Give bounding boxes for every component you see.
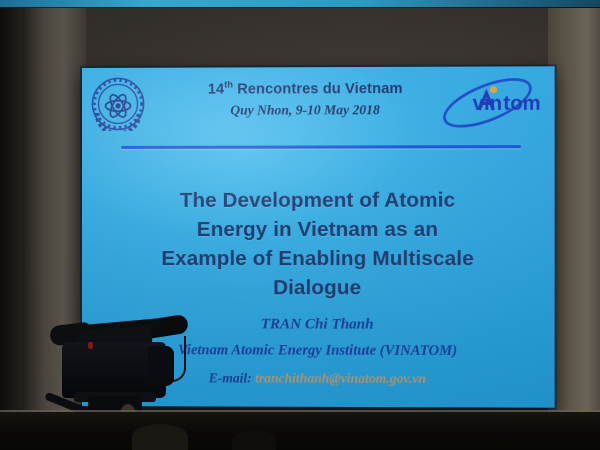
conference-title-ordinal: th xyxy=(224,79,233,89)
vinatom-orbit-logo-icon: vin tom xyxy=(435,76,541,129)
slide-title: The Development of Atomic Energy in Viet… xyxy=(100,186,536,304)
slide-header: 14th Rencontres du Vietnam Quy Nhon, 9-1… xyxy=(82,72,555,136)
slide-title-line-3: Example of Enabling Multiscale xyxy=(100,244,536,273)
conference-header-text: 14th Rencontres du Vietnam Quy Nhon, 9-1… xyxy=(154,80,457,119)
svg-text:tom: tom xyxy=(503,93,540,115)
slide-title-line-2: Energy in Vietnam as an xyxy=(100,215,536,244)
slide-title-line-4: Dialogue xyxy=(100,273,536,303)
vietnam-atomic-energy-emblem-icon xyxy=(91,77,145,131)
conference-place-date: Quy Nhon, 9-10 May 2018 xyxy=(154,102,457,119)
header-divider xyxy=(121,145,521,149)
camera-lens-hood xyxy=(148,346,174,386)
conference-title: 14th Rencontres du Vietnam xyxy=(154,80,457,99)
audience-head-right xyxy=(232,430,276,450)
conference-title-rest: Rencontres du Vietnam xyxy=(233,81,403,98)
wall-right-panel xyxy=(548,8,600,420)
foreground-dark-band xyxy=(0,412,600,450)
conference-title-number: 14 xyxy=(208,81,224,97)
audience-head-left xyxy=(132,424,188,450)
camera-record-light xyxy=(88,342,93,349)
slide-title-line-1: The Development of Atomic xyxy=(100,186,536,216)
wall-far-left-edge xyxy=(0,8,24,420)
conference-room-photo: 14th Rencontres du Vietnam Quy Nhon, 9-1… xyxy=(0,0,600,450)
email-address: tranchithanh@vinatom.gov.vn xyxy=(255,370,426,386)
